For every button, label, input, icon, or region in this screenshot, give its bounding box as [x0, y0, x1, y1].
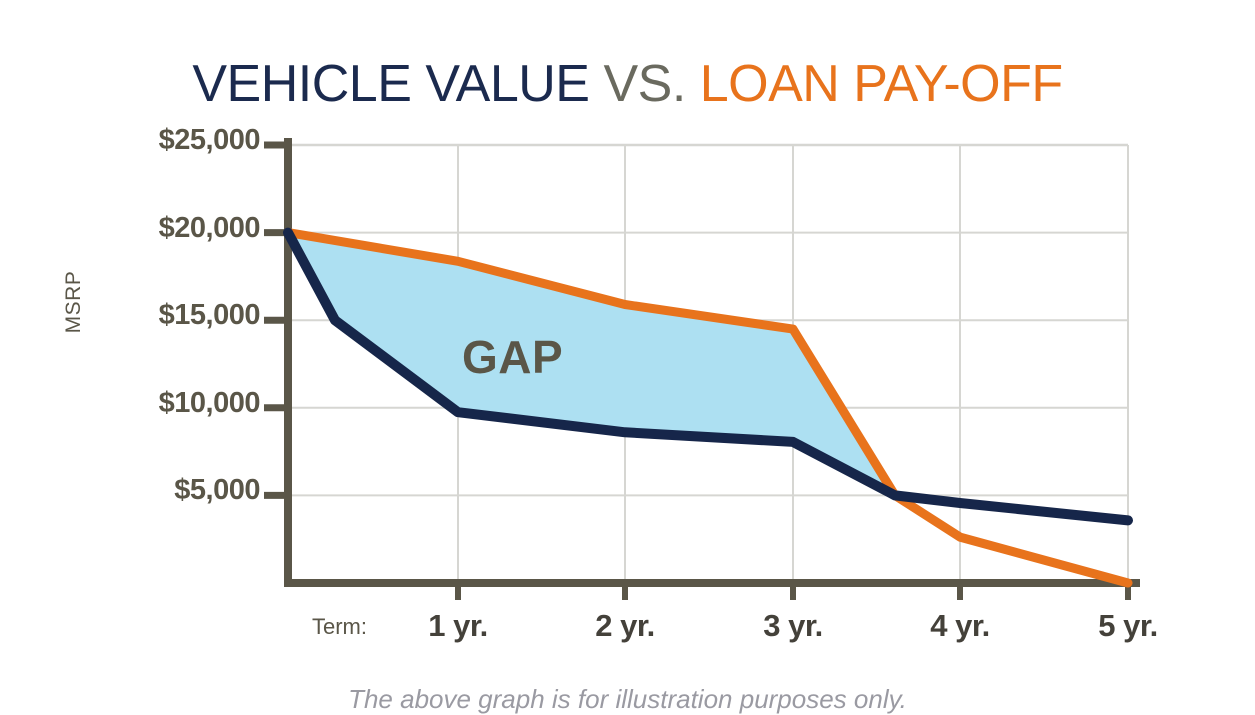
x-axis-label: Term: [312, 614, 367, 640]
gap-annotation-label: GAP [462, 330, 563, 384]
x-tick-label-3yr: 3 yr. [733, 608, 853, 644]
chart-container: VEHICLE VALUE VS. LOAN PAY-OFF MSRP $25,… [0, 0, 1255, 709]
x-tick-label-1yr: 1 yr. [398, 608, 518, 644]
x-tick-label-5yr: 5 yr. [1068, 608, 1188, 644]
x-tick-label-2yr: 2 yr. [565, 608, 685, 644]
x-tick-label-4yr: 4 yr. [900, 608, 1020, 644]
gap-shaded-region [288, 233, 895, 496]
footnote-disclaimer: The above graph is for illustration purp… [0, 684, 1255, 715]
plot-area [0, 0, 1255, 709]
